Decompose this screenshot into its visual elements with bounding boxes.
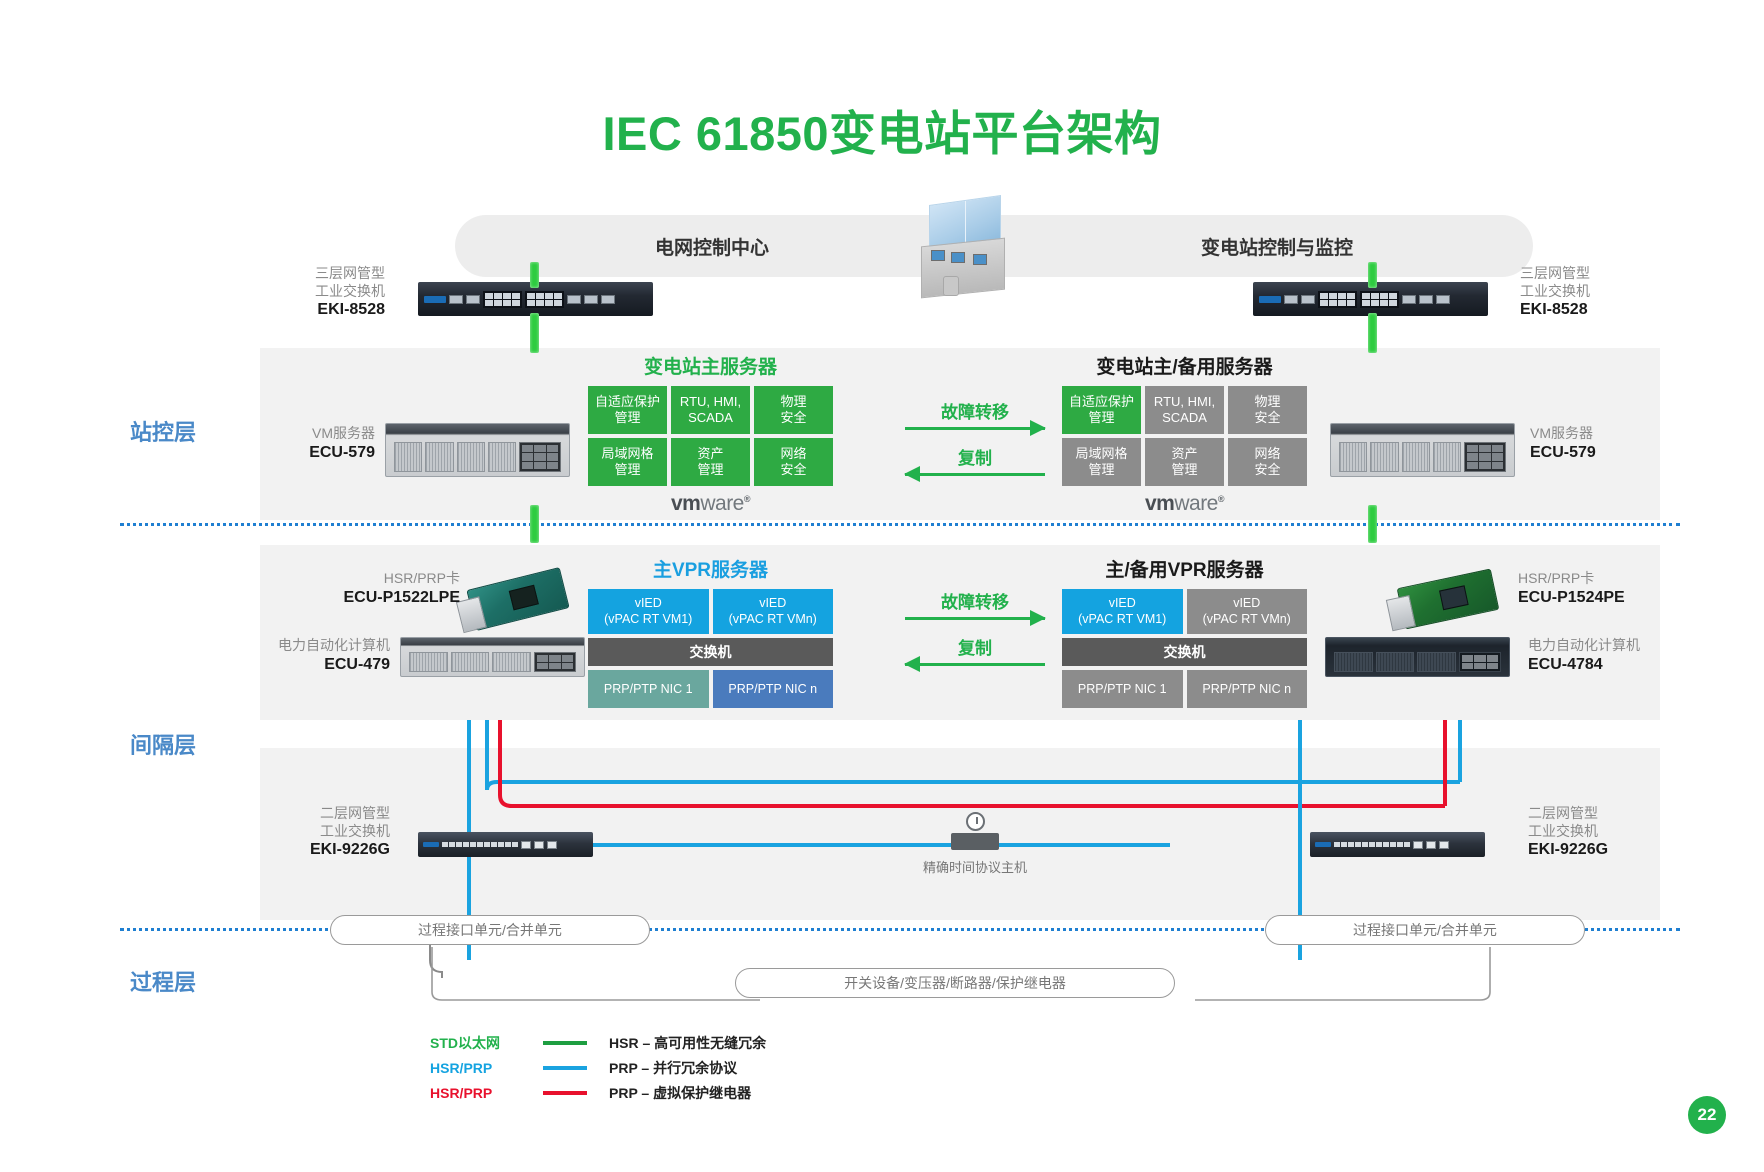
label-ecu-579-right: VM服务器 ECU-579 (1530, 425, 1660, 463)
panel-substation-primary-server: 变电站主服务器 自适应保护管理 RTU, HMI,SCADA 物理安全 局域网格… (588, 352, 833, 516)
module-cell: 自适应保护管理 (588, 386, 667, 434)
layer-label-bay: 间隔层 (130, 728, 196, 760)
label-switch-eki-9226g-right: 二层网管型 工业交换机 EKI-9226G (1528, 805, 1678, 860)
legend-row: HSR/PRP PRP – 并行冗余协议 (430, 1055, 766, 1080)
panel-title-right-station: 变电站主/备用服务器 (1062, 352, 1307, 379)
arrow-failover-bay (905, 617, 1045, 620)
vied-cell: vIED(vPAC RT VM1) (588, 589, 709, 634)
legend-code: HSR/PRP (430, 1060, 535, 1076)
rack-ecu-4784 (1325, 637, 1510, 677)
vied-cell: vIED(vPAC RT VMn) (713, 589, 834, 634)
label-switch-eki-9226g-left: 二层网管型 工业交换机 EKI-9226G (250, 805, 390, 860)
green-link-top-left (530, 262, 539, 288)
legend-line-swatch (543, 1066, 587, 1070)
module-cell: RTU, HMI,SCADA (671, 386, 750, 434)
diagram-canvas: IEC 61850变电站平台架构 站控层 间隔层 过程层 电网控制中心 (0, 0, 1764, 1172)
vmware-logo-left: vmware® (588, 492, 833, 516)
module-cell: 局域网格管理 (588, 438, 667, 486)
nic-cell: PRP/PTP NIC 1 (1062, 670, 1183, 708)
label-switch-eki-8528-left: 三层网管型 工业交换机 EKI-8528 (245, 265, 385, 320)
clock-icon (966, 812, 985, 831)
grid-control-center-label: 电网控制中心 (655, 233, 769, 260)
module-cell: 物理安全 (1228, 386, 1307, 434)
arrow-failover-station (905, 427, 1045, 430)
arrow-label-failover-bay: 故障转移 (905, 588, 1045, 613)
green-link-right-bay (1368, 505, 1377, 543)
module-cell: 网络安全 (1228, 438, 1307, 486)
layer-label-station: 站控层 (130, 415, 196, 447)
vied-cell: vIED(vPAC RT VMn) (1187, 589, 1308, 634)
vpr-switch-bar-right: 交换机 (1062, 638, 1307, 666)
page-title: IEC 61850变电站平台架构 (0, 95, 1764, 164)
green-link-left-station (530, 313, 539, 353)
arrow-replicate-bay (905, 663, 1045, 666)
pill-process-interface-right: 过程接口单元/合并单元 (1265, 915, 1585, 945)
vpr-grid-left: vIED(vPAC RT VM1) vIED(vPAC RT VMn) 交换机 … (588, 589, 833, 708)
module-cell: 自适应保护管理 (1062, 386, 1141, 434)
panel-title-left-station: 变电站主服务器 (588, 352, 833, 379)
ptp-master-label: 精确时间协议主机 (920, 857, 1030, 876)
panel-title-left-vpr: 主VPR服务器 (588, 555, 833, 582)
label-ecu-579-left: VM服务器 ECU-579 (250, 425, 375, 463)
switch-eki-9226g-left (418, 832, 593, 857)
arrow-label-replicate-bay: 复制 (905, 634, 1045, 659)
vmware-logo-right: vmware® (1062, 492, 1307, 516)
rack-ecu-479 (400, 637, 585, 677)
ptp-master-device: 精确时间协议主机 (920, 812, 1030, 876)
panel-backup-vpr-server: 主/备用VPR服务器 vIED(vPAC RT VM1) vIED(vPAC R… (1062, 555, 1307, 708)
label-ecu-4784: 电力自动化计算机 ECU-4784 (1528, 637, 1678, 675)
layer-label-process: 过程层 (130, 965, 196, 997)
module-cell: 局域网格管理 (1062, 438, 1141, 486)
arrow-label-failover-station: 故障转移 (905, 398, 1045, 423)
ptp-device-box (951, 833, 999, 850)
operator-console-illustration (915, 200, 1010, 305)
pill-switchgear: 开关设备/变压器/断路器/保护继电器 (735, 968, 1175, 998)
module-grid-left-station: 自适应保护管理 RTU, HMI,SCADA 物理安全 局域网格管理 资产管理 … (588, 386, 833, 486)
module-cell: 资产管理 (671, 438, 750, 486)
green-link-right-station (1368, 313, 1377, 353)
label-card-right: HSR/PRP卡 ECU-P1524PE (1518, 570, 1688, 608)
panel-primary-vpr-server: 主VPR服务器 vIED(vPAC RT VM1) vIED(vPAC RT V… (588, 555, 833, 708)
legend-desc: HSR – 高可用性无缝冗余 (609, 1033, 766, 1053)
pill-process-interface-left: 过程接口单元/合并单元 (330, 915, 650, 945)
green-link-left-bay (530, 505, 539, 543)
vpr-switch-bar-left: 交换机 (588, 638, 833, 666)
label-switch-eki-8528-right: 三层网管型 工业交换机 EKI-8528 (1520, 265, 1670, 320)
panel-substation-backup-server: 变电站主/备用服务器 自适应保护管理 RTU, HMI,SCADA 物理安全 局… (1062, 352, 1307, 516)
module-cell: RTU, HMI,SCADA (1145, 386, 1224, 434)
legend-desc: PRP – 并行冗余协议 (609, 1058, 737, 1078)
legend-code: STD以太网 (430, 1033, 535, 1053)
module-cell: 网络安全 (754, 438, 833, 486)
module-grid-right-station: 自适应保护管理 RTU, HMI,SCADA 物理安全 局域网格管理 资产管理 … (1062, 386, 1307, 486)
nic-cell: PRP/PTP NIC n (1187, 670, 1308, 708)
module-cell: 资产管理 (1145, 438, 1224, 486)
panel-title-right-vpr: 主/备用VPR服务器 (1062, 555, 1307, 582)
rack-ecu-579-right (1330, 423, 1515, 477)
vpr-grid-right: vIED(vPAC RT VM1) vIED(vPAC RT VMn) 交换机 … (1062, 589, 1307, 708)
legend-row: HSR/PRP PRP – 虚拟保护继电器 (430, 1080, 766, 1105)
vied-cell: vIED(vPAC RT VM1) (1062, 589, 1183, 634)
rack-ecu-579-left (385, 423, 570, 477)
legend: STD以太网 HSR – 高可用性无缝冗余 HSR/PRP PRP – 并行冗余… (430, 1030, 766, 1105)
divider-station-bay (120, 523, 1680, 526)
legend-row: STD以太网 HSR – 高可用性无缝冗余 (430, 1030, 766, 1055)
nic-cell: PRP/PTP NIC n (713, 670, 834, 708)
nic-cell: PRP/PTP NIC 1 (588, 670, 709, 708)
green-link-top-right (1368, 262, 1377, 288)
switch-eki-9226g-right (1310, 832, 1485, 857)
label-ecu-479: 电力自动化计算机 ECU-479 (250, 637, 390, 675)
arrow-replicate-station (905, 473, 1045, 476)
legend-line-swatch (543, 1091, 587, 1095)
module-cell: 物理安全 (754, 386, 833, 434)
arrow-group-station: 故障转移 复制 (905, 398, 1045, 476)
arrow-label-replicate-station: 复制 (905, 444, 1045, 469)
legend-desc: PRP – 虚拟保护继电器 (609, 1083, 751, 1103)
arrow-group-bay: 故障转移 复制 (905, 588, 1045, 666)
label-card-left: HSR/PRP卡 ECU-P1522LPE (300, 570, 460, 608)
legend-code: HSR/PRP (430, 1085, 535, 1101)
page-number-badge: 22 (1688, 1096, 1726, 1134)
legend-line-swatch (543, 1041, 587, 1045)
substation-control-label: 变电站控制与监控 (1201, 233, 1353, 260)
